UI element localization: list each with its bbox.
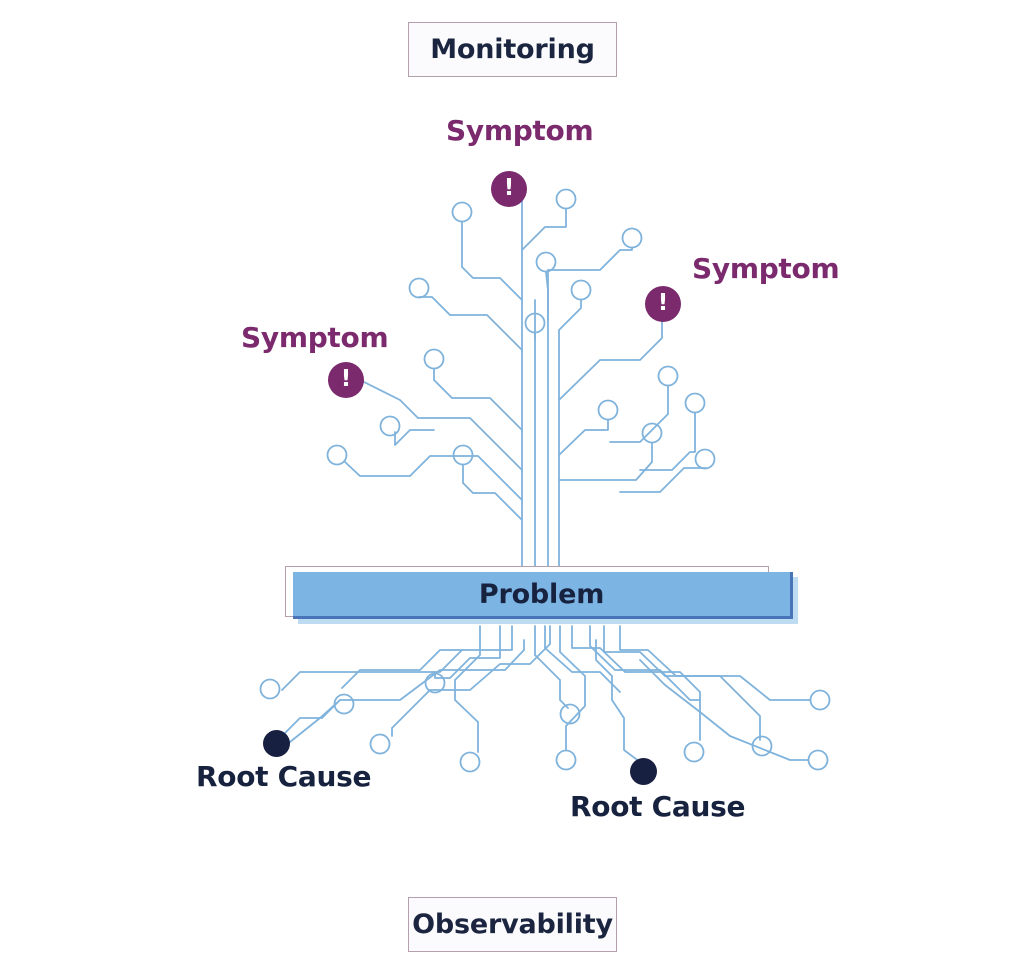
exclamation-glyph: ! (504, 177, 515, 200)
symptom-exclamation-icon-top: ! (491, 171, 527, 207)
problem-node: Problem (285, 566, 800, 626)
root-cause-dot-icon-left (263, 730, 290, 757)
diagram-canvas: Monitoring Observability Problem Symptom… (0, 0, 1024, 974)
monitoring-caption-box: Monitoring (408, 22, 617, 77)
problem-label: Problem (479, 579, 604, 610)
root-cause-dot-icon-right (630, 758, 657, 785)
symptom-label-top: Symptom (446, 114, 593, 147)
exclamation-glyph: ! (658, 292, 669, 315)
symptom-label-left: Symptom (241, 321, 388, 354)
monitoring-caption-label: Monitoring (430, 34, 594, 65)
symptom-label-right: Symptom (692, 252, 839, 285)
root-cause-label-left: Root Cause (196, 760, 371, 793)
exclamation-glyph: ! (341, 368, 352, 391)
root-cause-label-right: Root Cause (570, 790, 745, 823)
symptom-exclamation-icon-left: ! (328, 362, 364, 398)
symptom-exclamation-icon-right: ! (645, 286, 681, 322)
problem-bar: Problem (293, 572, 793, 619)
observability-caption-label: Observability (412, 909, 613, 940)
observability-caption-box: Observability (408, 897, 617, 952)
